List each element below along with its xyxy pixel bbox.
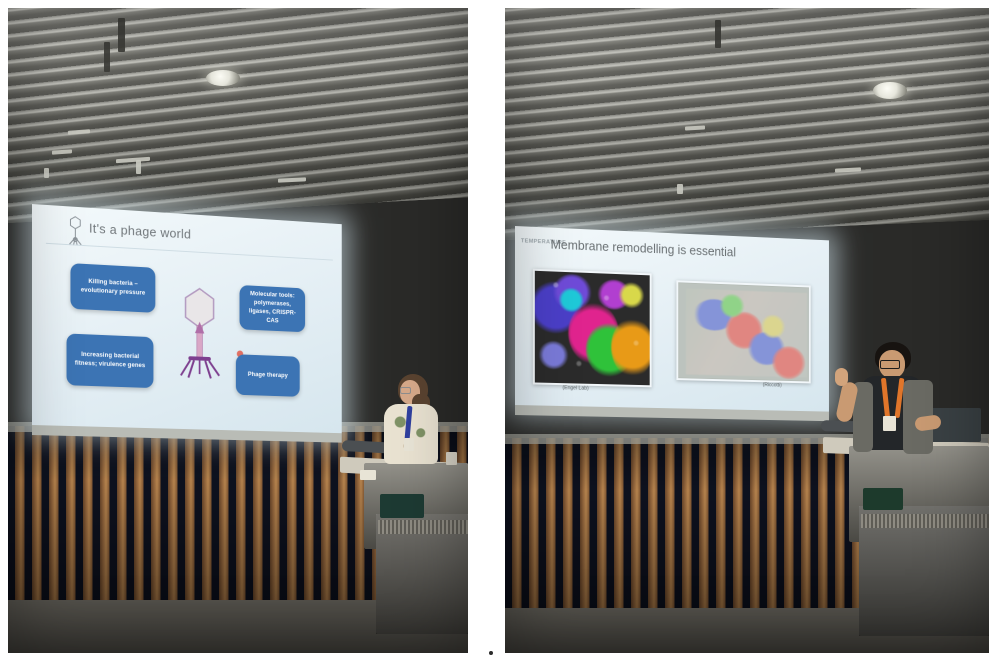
photo-collage: It's a phage world Killing bacteria – ev… — [0, 0, 997, 661]
slide-box-phage-therapy: Phage therapy — [236, 354, 300, 397]
podium-grill-left — [378, 520, 468, 534]
slide-title-left: It's a phage world — [89, 221, 191, 242]
micrograph-caption-second: (Riccotti) — [763, 382, 782, 388]
slide-box-killing-bacteria: Killing bacteria – evolutionary pressure — [70, 263, 155, 313]
paper-on-lectern-left — [360, 470, 376, 480]
slide-box-molecular-tools: Molecular tools: polymerases, ligases, C… — [240, 285, 306, 332]
screen-surface: TEMPERATURE Membrane remodelling is esse… — [515, 226, 829, 413]
micrograph-engel-lab — [533, 269, 652, 388]
ceiling-downlight — [206, 70, 240, 86]
micrograph-caption-engel: (Engel Lab) — [562, 385, 588, 392]
ceiling-slats-left — [8, 8, 468, 223]
slide-right: TEMPERATURE Membrane remodelling is esse… — [515, 226, 829, 413]
slide-left: It's a phage world Killing bacteria – ev… — [32, 204, 342, 434]
image-artifact-dot — [489, 651, 493, 655]
slide-box-bacterial-fitness: Increasing bacterial fitness; virulence … — [67, 333, 154, 388]
ceiling-downlight — [873, 82, 907, 99]
ceiling-bracket — [677, 184, 683, 194]
bacteriophage-illustration — [175, 282, 224, 381]
ceiling-slats-right — [505, 8, 989, 240]
raised-hand — [835, 368, 848, 386]
podium-grill-right — [861, 514, 989, 528]
ceiling-baffle — [104, 42, 110, 72]
slide-title-right: Membrane remodelling is essential — [551, 238, 736, 260]
badge — [404, 438, 414, 451]
equipment-right — [863, 488, 903, 510]
left-photo: It's a phage world Killing bacteria – ev… — [8, 8, 468, 653]
right-photo: TEMPERATURE Membrane remodelling is esse… — [505, 8, 989, 653]
badge — [883, 416, 896, 431]
glasses — [880, 360, 900, 369]
glasses — [400, 387, 411, 394]
slide-title-rule — [46, 243, 333, 261]
ceiling-bracket — [136, 160, 141, 174]
ceiling-bracket — [44, 168, 49, 178]
ceiling-baffle — [118, 18, 125, 52]
screen-surface: It's a phage world Killing bacteria – ev… — [32, 204, 342, 434]
cup-left — [446, 452, 457, 465]
ceiling-baffle — [715, 20, 721, 48]
bacteriophage-icon — [65, 214, 87, 247]
laptop-left — [380, 494, 424, 518]
projection-screen-left: It's a phage world Killing bacteria – ev… — [32, 204, 342, 434]
micrograph-second — [676, 280, 810, 383]
projection-screen-right: TEMPERATURE Membrane remodelling is esse… — [515, 226, 829, 413]
